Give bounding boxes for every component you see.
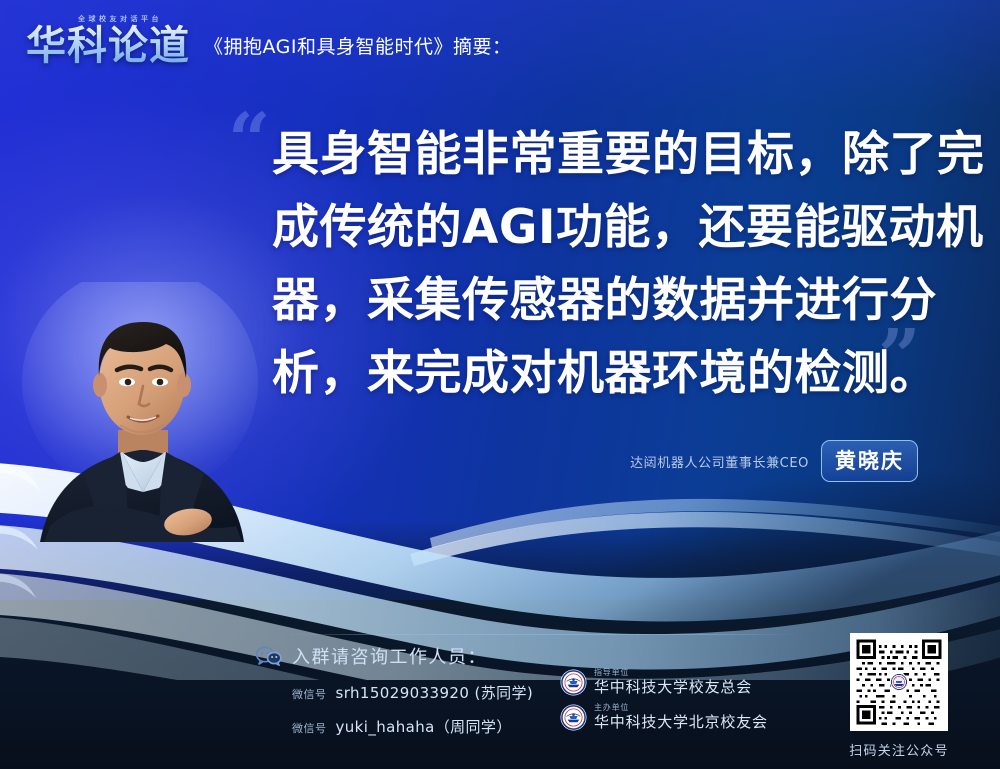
page-title: 《拥抱AGI和具身智能时代》摘要： bbox=[204, 32, 512, 66]
organization-text: 主办单位 华中科技大学北京校友会 bbox=[594, 703, 768, 731]
qr-code-icon[interactable] bbox=[850, 633, 948, 731]
organization-name: 华中科技大学校友总会 bbox=[594, 678, 752, 696]
speaker-role: 达闼机器人公司董事长兼CEO bbox=[630, 452, 809, 471]
contact-label: 微信号 bbox=[292, 686, 327, 702]
contact-header: 入群请咨询工作人员： bbox=[256, 643, 533, 669]
quote-line: 器，采集传感器的数据并进行分 bbox=[272, 264, 942, 337]
organizations-section: 指导单位 华中科技大学校友总会 主办单位 华中科技大学北京校友会 bbox=[560, 668, 768, 738]
contact-value: srh15029033920 (苏同学) bbox=[336, 682, 534, 703]
quote-line: 析，来完成对机器环境的检测。 bbox=[272, 337, 942, 410]
contact-label: 微信号 bbox=[292, 720, 327, 736]
footer-divider bbox=[278, 634, 798, 635]
poster-canvas: 全球校友对话平台 华科论道 《拥抱AGI和具身智能时代》摘要： “ ” 具身智能… bbox=[0, 0, 1000, 769]
hust-emblem-icon bbox=[560, 704, 587, 731]
hust-emblem-icon bbox=[560, 669, 587, 696]
organization-text: 指导单位 华中科技大学校友总会 bbox=[594, 668, 752, 696]
organization-kind: 指导单位 bbox=[594, 668, 752, 678]
organization-kind: 主办单位 bbox=[594, 703, 768, 713]
qr-caption: 扫码关注公众号 bbox=[838, 740, 960, 759]
organization-row: 主办单位 华中科技大学北京校友会 bbox=[560, 703, 768, 731]
poster-header: 全球校友对话平台 华科论道 《拥抱AGI和具身智能时代》摘要： bbox=[26, 12, 512, 66]
organization-name: 华中科技大学北京校友会 bbox=[594, 713, 768, 731]
quote-text-block: 具身智能非常重要的目标，除了完 成传统的AGI功能，还要能驱动机 器，采集传感器… bbox=[272, 118, 942, 410]
qr-section: 扫码关注公众号 bbox=[838, 633, 960, 759]
contact-section: 入群请咨询工作人员： 微信号 srh15029033920 (苏同学) 微信号 … bbox=[256, 643, 533, 737]
quote-line: 具身智能非常重要的目标，除了完 bbox=[272, 118, 942, 191]
contact-value: yuki_hahaha（周同学） bbox=[336, 716, 512, 737]
wechat-icon bbox=[256, 646, 282, 666]
speaker-name-badge: 黄晓庆 bbox=[821, 440, 918, 482]
brand-logo: 全球校友对话平台 华科论道 bbox=[26, 12, 190, 66]
contact-title: 入群请咨询工作人员： bbox=[292, 643, 487, 669]
organization-row: 指导单位 华中科技大学校友总会 bbox=[560, 668, 768, 696]
speaker-attribution: 达闼机器人公司董事长兼CEO 黄晓庆 bbox=[630, 440, 918, 482]
brand-logo-text: 华科论道 bbox=[26, 12, 190, 66]
quote-open-mark: “ bbox=[228, 104, 271, 178]
contact-row: 微信号 yuki_hahaha（周同学） bbox=[292, 716, 533, 737]
speaker-portrait bbox=[22, 282, 262, 542]
contact-row: 微信号 srh15029033920 (苏同学) bbox=[292, 682, 533, 703]
quote-line: 成传统的AGI功能，还要能驱动机 bbox=[272, 191, 942, 264]
